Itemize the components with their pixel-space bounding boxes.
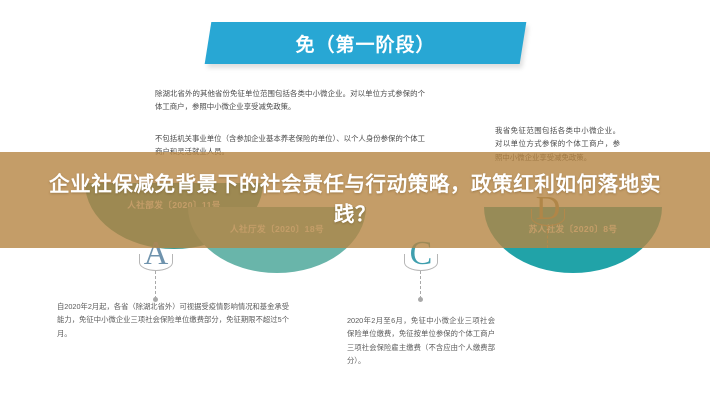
marker-dot-c-icon	[418, 297, 423, 302]
screenshot-root: 免（第一阶段） 除湖北省外的其他省份免征单位范围包括各类中小微企业。对以单位方式…	[0, 0, 710, 400]
marker-stem-c-icon	[420, 271, 421, 299]
section-banner-label: 免（第一阶段）	[295, 30, 435, 57]
marker-bowl-a-icon	[139, 254, 173, 271]
marker-bowl-c-icon	[404, 254, 438, 271]
page-title: 企业社保减免背景下的社会责任与行动策略，政策红利如何落地实践？	[28, 170, 682, 229]
note-national-policy: 自2020年2月起，各省（除湖北省外）可视据受疫情影响情况和基金承受能力，免征中…	[57, 300, 289, 340]
paragraph-scope: 除湖北省外的其他省份免征单位范围包括各类中小微企业。对以单位方式参保的个体工商户…	[155, 88, 425, 114]
marker-stem-a-icon	[155, 271, 156, 299]
title-overlay: 企业社保减免背景下的社会责任与行动策略，政策红利如何落地实践？	[0, 152, 710, 248]
section-banner: 免（第一阶段）	[208, 22, 523, 64]
note-period-policy: 2020年2月至6月，免征中小微企业三项社会保险单位缴费，免征按单位参保的个体工…	[347, 314, 495, 368]
